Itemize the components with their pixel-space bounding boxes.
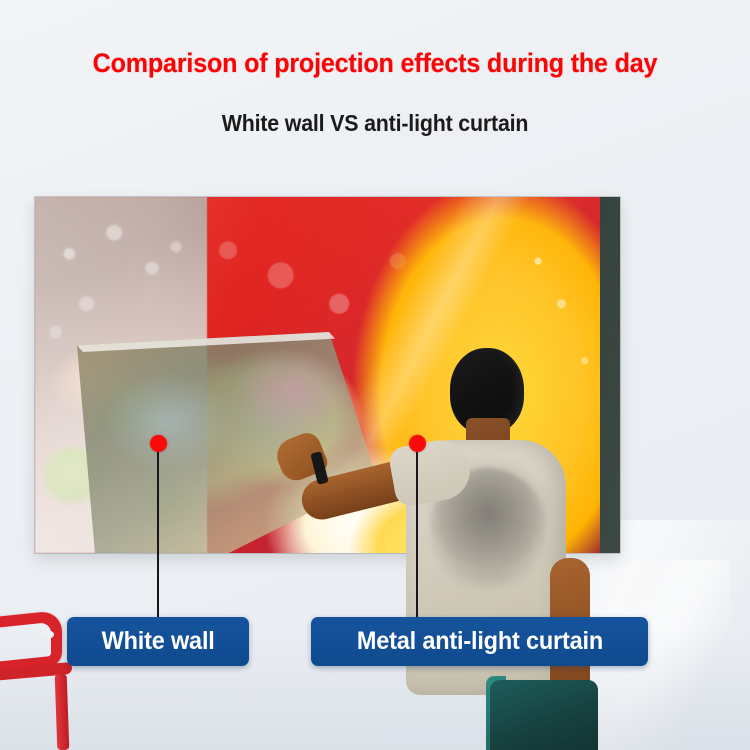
page-title: Comparison of projection effects during … <box>26 48 724 79</box>
callout-marker-metal-curtain <box>409 435 426 452</box>
callout-label-metal-curtain: Metal anti-light curtain <box>311 617 648 666</box>
callout-label-white-wall: White wall <box>67 617 249 666</box>
screen-dark-edge <box>600 197 620 553</box>
person-pants <box>490 680 598 750</box>
page-subtitle: White wall VS anti-light curtain <box>26 110 724 137</box>
callout-label-metal-curtain-text: Metal anti-light curtain <box>356 627 602 656</box>
chair-leg-right <box>55 674 70 750</box>
chair-backrest-notch <box>40 630 54 639</box>
heading-block: Comparison of projection effects during … <box>0 0 750 180</box>
person-demonstrator <box>300 300 600 750</box>
callout-leader-line-metal-curtain <box>416 450 418 618</box>
callout-marker-white-wall <box>150 435 167 452</box>
callout-label-white-wall-text: White wall <box>101 627 214 656</box>
wristwatch <box>310 451 328 485</box>
callout-leader-line-white-wall <box>157 450 159 618</box>
